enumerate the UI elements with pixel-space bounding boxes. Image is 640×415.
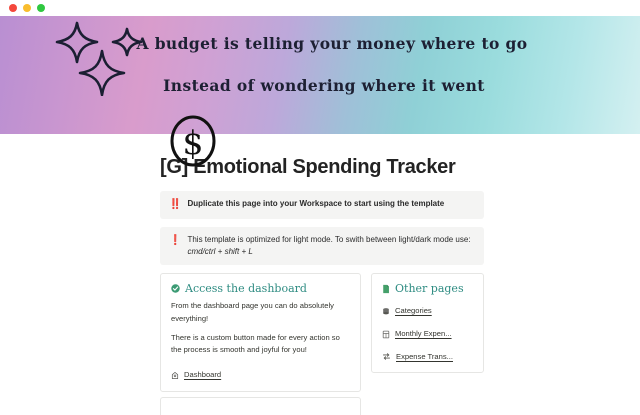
page-document-icon [382, 284, 390, 294]
card-other-pages[interactable]: Other pages Categories Monthly Ex [371, 273, 484, 373]
check-circle-icon [171, 284, 180, 293]
callout-duplicate-text: Duplicate this page into your Workspace … [187, 199, 444, 208]
card-left-heading-text: Access the dashboard [185, 283, 307, 294]
window-title-bar [0, 0, 640, 16]
callout-light-mode-text: This template is optimized for light mod… [187, 235, 470, 244]
table-grid-icon [382, 330, 390, 339]
page-content: [G] Emotional Spending Tracker ‼️ Duplic… [0, 134, 640, 415]
banner-text-block: A budget is telling your money where to … [0, 36, 640, 93]
svg-text:$: $ [183, 123, 204, 162]
link-dashboard-label: Dashboard [184, 370, 221, 381]
card-right-heading: Other pages [382, 283, 473, 294]
banner-headline-2: Instead of wondering where it went [8, 78, 640, 94]
link-categories-label: Categories [395, 306, 432, 317]
card-right-heading-text: Other pages [395, 283, 464, 294]
minimize-window-button[interactable] [23, 4, 31, 12]
card-left-paragraph-2: There is a custom button made for every … [171, 332, 350, 357]
close-window-button[interactable] [9, 4, 17, 12]
link-monthly-expenses[interactable]: Monthly Expen... [382, 329, 473, 340]
link-categories[interactable]: Categories [382, 306, 473, 317]
link-dashboard[interactable]: Dashboard [171, 370, 350, 381]
page-cover-banner: A budget is telling your money where to … [0, 16, 640, 134]
link-monthly-expenses-label: Monthly Expen... [395, 329, 452, 340]
cards-row: Access the dashboard From the dashboard … [160, 273, 484, 392]
banner-headline-1: A budget is telling your money where to … [24, 36, 640, 52]
database-icon [382, 307, 390, 316]
dashboard-page-icon [171, 371, 179, 380]
link-expense-transactions-label: Expense Trans... [396, 352, 453, 363]
callout-shortcut-text: cmd/ctrl + shift + L [187, 247, 252, 256]
card-left-heading: Access the dashboard [171, 283, 350, 294]
card-access-dashboard[interactable]: Access the dashboard From the dashboard … [160, 273, 361, 392]
link-expense-transactions[interactable]: Expense Trans... [382, 352, 473, 363]
double-exclamation-icon: ‼️ [169, 198, 180, 212]
card-left-paragraph-1: From the dashboard page you can do absol… [171, 300, 350, 325]
transfer-arrows-icon [382, 352, 391, 361]
zoom-window-button[interactable] [37, 4, 45, 12]
dollar-coin-icon: $ [166, 114, 220, 168]
exclamation-icon: ❗ [169, 234, 180, 248]
callout-light-mode: ❗ This template is optimized for light m… [160, 227, 484, 266]
callout-duplicate-template: ‼️ Duplicate this page into your Workspa… [160, 191, 484, 219]
